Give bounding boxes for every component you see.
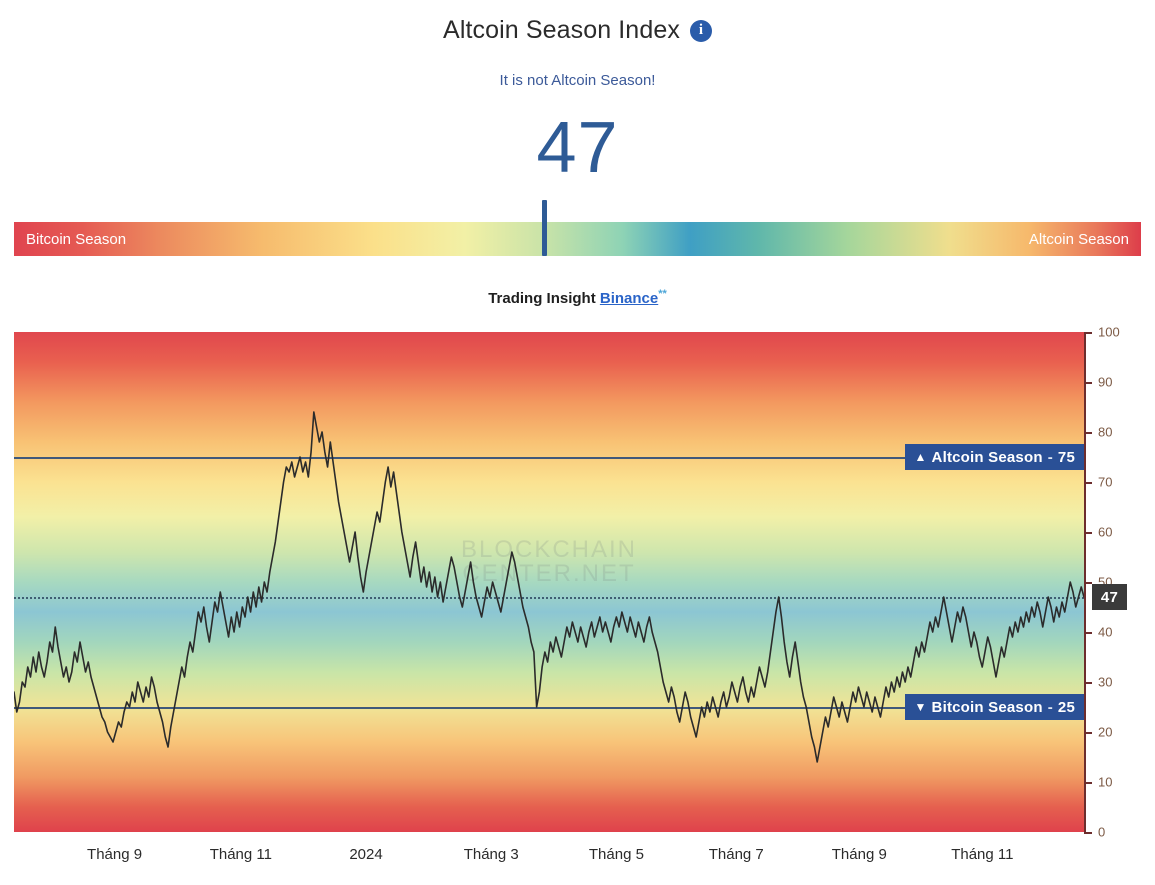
badge-current-text: 47 xyxy=(1101,589,1118,606)
badge-altcoin-dash: - xyxy=(1048,449,1053,466)
x-tick-label: Tháng 11 xyxy=(210,846,272,863)
y-tick xyxy=(1084,632,1092,634)
x-tick-label: Tháng 5 xyxy=(589,846,644,863)
binance-link[interactable]: Binance xyxy=(600,290,658,307)
badge-altcoin-value: 75 xyxy=(1058,449,1075,466)
x-tick-label: Tháng 11 xyxy=(951,846,1013,863)
y-tick xyxy=(1084,382,1092,384)
x-tick-label: Tháng 7 xyxy=(709,846,764,863)
season-subtitle: It is not Altcoin Season! xyxy=(0,72,1155,89)
x-tick-label: 2024 xyxy=(349,846,382,863)
insight-footnote: ** xyxy=(658,288,667,300)
badge-bitcoin-label: Bitcoin Season xyxy=(932,699,1043,716)
y-tick xyxy=(1084,482,1092,484)
y-tick-label: 90 xyxy=(1098,375,1112,390)
y-tick-label: 10 xyxy=(1098,775,1112,790)
y-tick-label: 20 xyxy=(1098,725,1112,740)
y-tick-label: 100 xyxy=(1098,325,1120,340)
y-axis: 0102030405060708090100 xyxy=(1084,332,1141,832)
y-tick-label: 30 xyxy=(1098,675,1112,690)
y-tick xyxy=(1084,732,1092,734)
y-tick xyxy=(1084,782,1092,784)
y-tick-label: 80 xyxy=(1098,425,1112,440)
y-tick-label: 60 xyxy=(1098,525,1112,540)
gauge-left-label: Bitcoin Season xyxy=(26,222,126,256)
info-icon[interactable]: i xyxy=(690,20,712,42)
triangle-up-icon: ▲ xyxy=(914,450,926,464)
badge-bitcoin-season[interactable]: ▼ Bitcoin Season - 25 xyxy=(905,694,1084,720)
page-header: Altcoin Season Index i xyxy=(0,16,1155,45)
index-line-series xyxy=(14,332,1084,832)
season-gauge: Bitcoin Season Altcoin Season xyxy=(14,222,1141,256)
x-tick-label: Tháng 3 xyxy=(464,846,519,863)
trading-insight: Trading Insight Binance** xyxy=(0,288,1155,307)
badge-altcoin-season[interactable]: ▲ Altcoin Season - 75 xyxy=(905,444,1084,470)
badge-altcoin-label: Altcoin Season xyxy=(932,449,1043,466)
altcoin-season-page: Altcoin Season Index i It is not Altcoin… xyxy=(0,0,1155,885)
y-tick xyxy=(1084,682,1092,684)
y-tick xyxy=(1084,582,1092,584)
trading-insight-label: Trading Insight xyxy=(488,290,596,307)
x-axis: Tháng 9Tháng 112024Tháng 3Tháng 5Tháng 7… xyxy=(14,836,1141,876)
triangle-down-icon: ▼ xyxy=(914,700,926,714)
y-tick xyxy=(1084,432,1092,434)
chart-plot-area: BLOCKCHAIN CENTER.NET xyxy=(14,332,1084,832)
index-value: 47 xyxy=(0,112,1155,184)
gauge-marker xyxy=(542,200,547,256)
y-tick xyxy=(1084,332,1092,334)
index-chart: BLOCKCHAIN CENTER.NET 010203040506070809… xyxy=(14,332,1141,832)
x-tick-label: Tháng 9 xyxy=(87,846,142,863)
x-tick-label: Tháng 9 xyxy=(832,846,887,863)
y-tick xyxy=(1084,532,1092,534)
badge-current-value: 47 xyxy=(1092,584,1127,610)
page-title: Altcoin Season Index xyxy=(443,16,680,45)
y-tick xyxy=(1084,832,1092,834)
badge-bitcoin-value: 25 xyxy=(1058,699,1075,716)
gauge-right-label: Altcoin Season xyxy=(1029,222,1129,256)
y-tick-label: 40 xyxy=(1098,625,1112,640)
badge-bitcoin-dash: - xyxy=(1048,699,1053,716)
gauge-gradient-bar xyxy=(14,222,1141,256)
y-tick-label: 70 xyxy=(1098,475,1112,490)
